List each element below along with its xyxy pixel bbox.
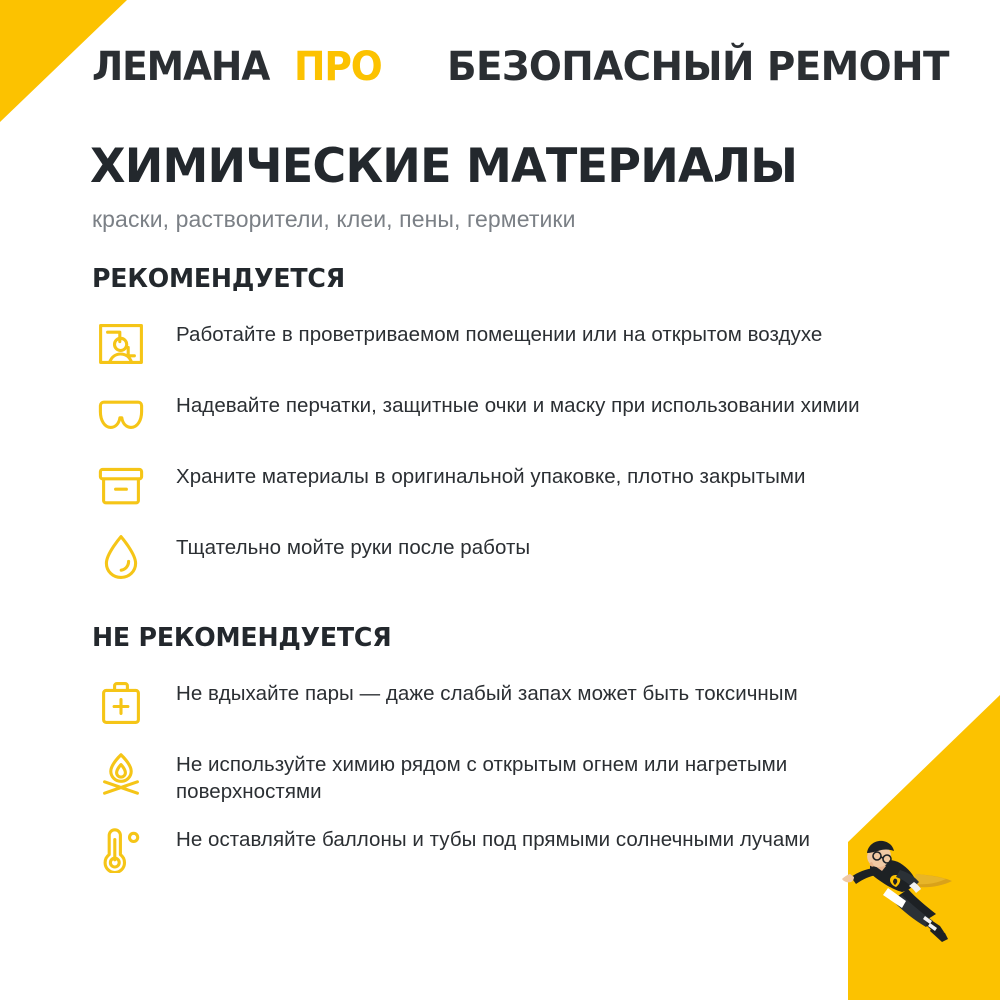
recommended-tip-list: Работайте в проветриваемом помещении или… [90, 314, 930, 585]
ventilated-room-icon [90, 316, 152, 372]
brand-logo: ЛЕМАНА ПРО [92, 47, 387, 87]
list-item: Не оставляйте баллоны и тубы под прямыми… [90, 819, 930, 877]
list-item: Надевайте перчатки, защитные очки и маск… [90, 385, 930, 443]
brand-logo-accent: ПРО [294, 47, 382, 87]
flying-superhero-mascot-icon [832, 830, 982, 948]
not-recommended-tip-list: Не вдыхайте пары — даже слабый запах мож… [90, 673, 930, 877]
header-campaign-title: БЕЗОПАСНЫЙ РЕМОНТ [447, 47, 949, 87]
safety-goggles-icon [90, 387, 152, 443]
list-item-text: Не вдыхайте пары — даже слабый запах мож… [176, 673, 798, 707]
list-item: Храните материалы в оригинальной упаковк… [90, 456, 930, 514]
section-not-recommended: НЕ РЕКОМЕНДУЕТСЯ Не вдыхайте пары — даже… [90, 625, 930, 890]
list-item-text: Работайте в проветриваемом помещении или… [176, 314, 822, 348]
section-recommended-heading: РЕКОМЕНДУЕТСЯ [92, 266, 905, 292]
title-block: ХИМИЧЕСКИЕ МАТЕРИАЛЫ краски, растворител… [90, 142, 940, 233]
poster-canvas: ЛЕМАНА ПРО БЕЗОПАСНЫЙ РЕМОНТ ХИМИЧЕСКИЕ … [0, 0, 1000, 1000]
list-item: Не вдыхайте пары — даже слабый запах мож… [90, 673, 930, 731]
water-drop-icon [90, 529, 152, 585]
page-subtitle: краски, растворители, клеи, пены, гермет… [92, 206, 940, 234]
list-item-text: Надевайте перчатки, защитные очки и маск… [176, 385, 860, 419]
list-item-text: Не используйте химию рядом с открытым ог… [176, 744, 896, 806]
first-aid-kit-icon [90, 675, 152, 731]
thermometer-icon [90, 821, 152, 877]
section-not-recommended-heading: НЕ РЕКОМЕНДУЕТСЯ [92, 625, 905, 651]
list-item-text: Храните материалы в оригинальной упаковк… [176, 456, 806, 490]
brand-logo-primary: ЛЕМАНА [92, 47, 269, 87]
section-recommended: РЕКОМЕНДУЕТСЯ Работайте в проветриваем [90, 266, 930, 598]
list-item: Тщательно мойте руки после работы [90, 527, 930, 585]
list-item: Не используйте химию рядом с открытым ог… [90, 744, 930, 806]
campfire-icon [90, 746, 152, 802]
page-title: ХИМИЧЕСКИЕ МАТЕРИАЛЫ [90, 142, 923, 192]
list-item-text: Не оставляйте баллоны и тубы под прямыми… [176, 819, 810, 853]
list-item: Работайте в проветриваемом помещении или… [90, 314, 930, 372]
list-item-text: Тщательно мойте руки после работы [176, 527, 530, 561]
poster-header: ЛЕМАНА ПРО БЕЗОПАСНЫЙ РЕМОНТ [92, 38, 940, 96]
storage-box-icon [90, 458, 152, 514]
